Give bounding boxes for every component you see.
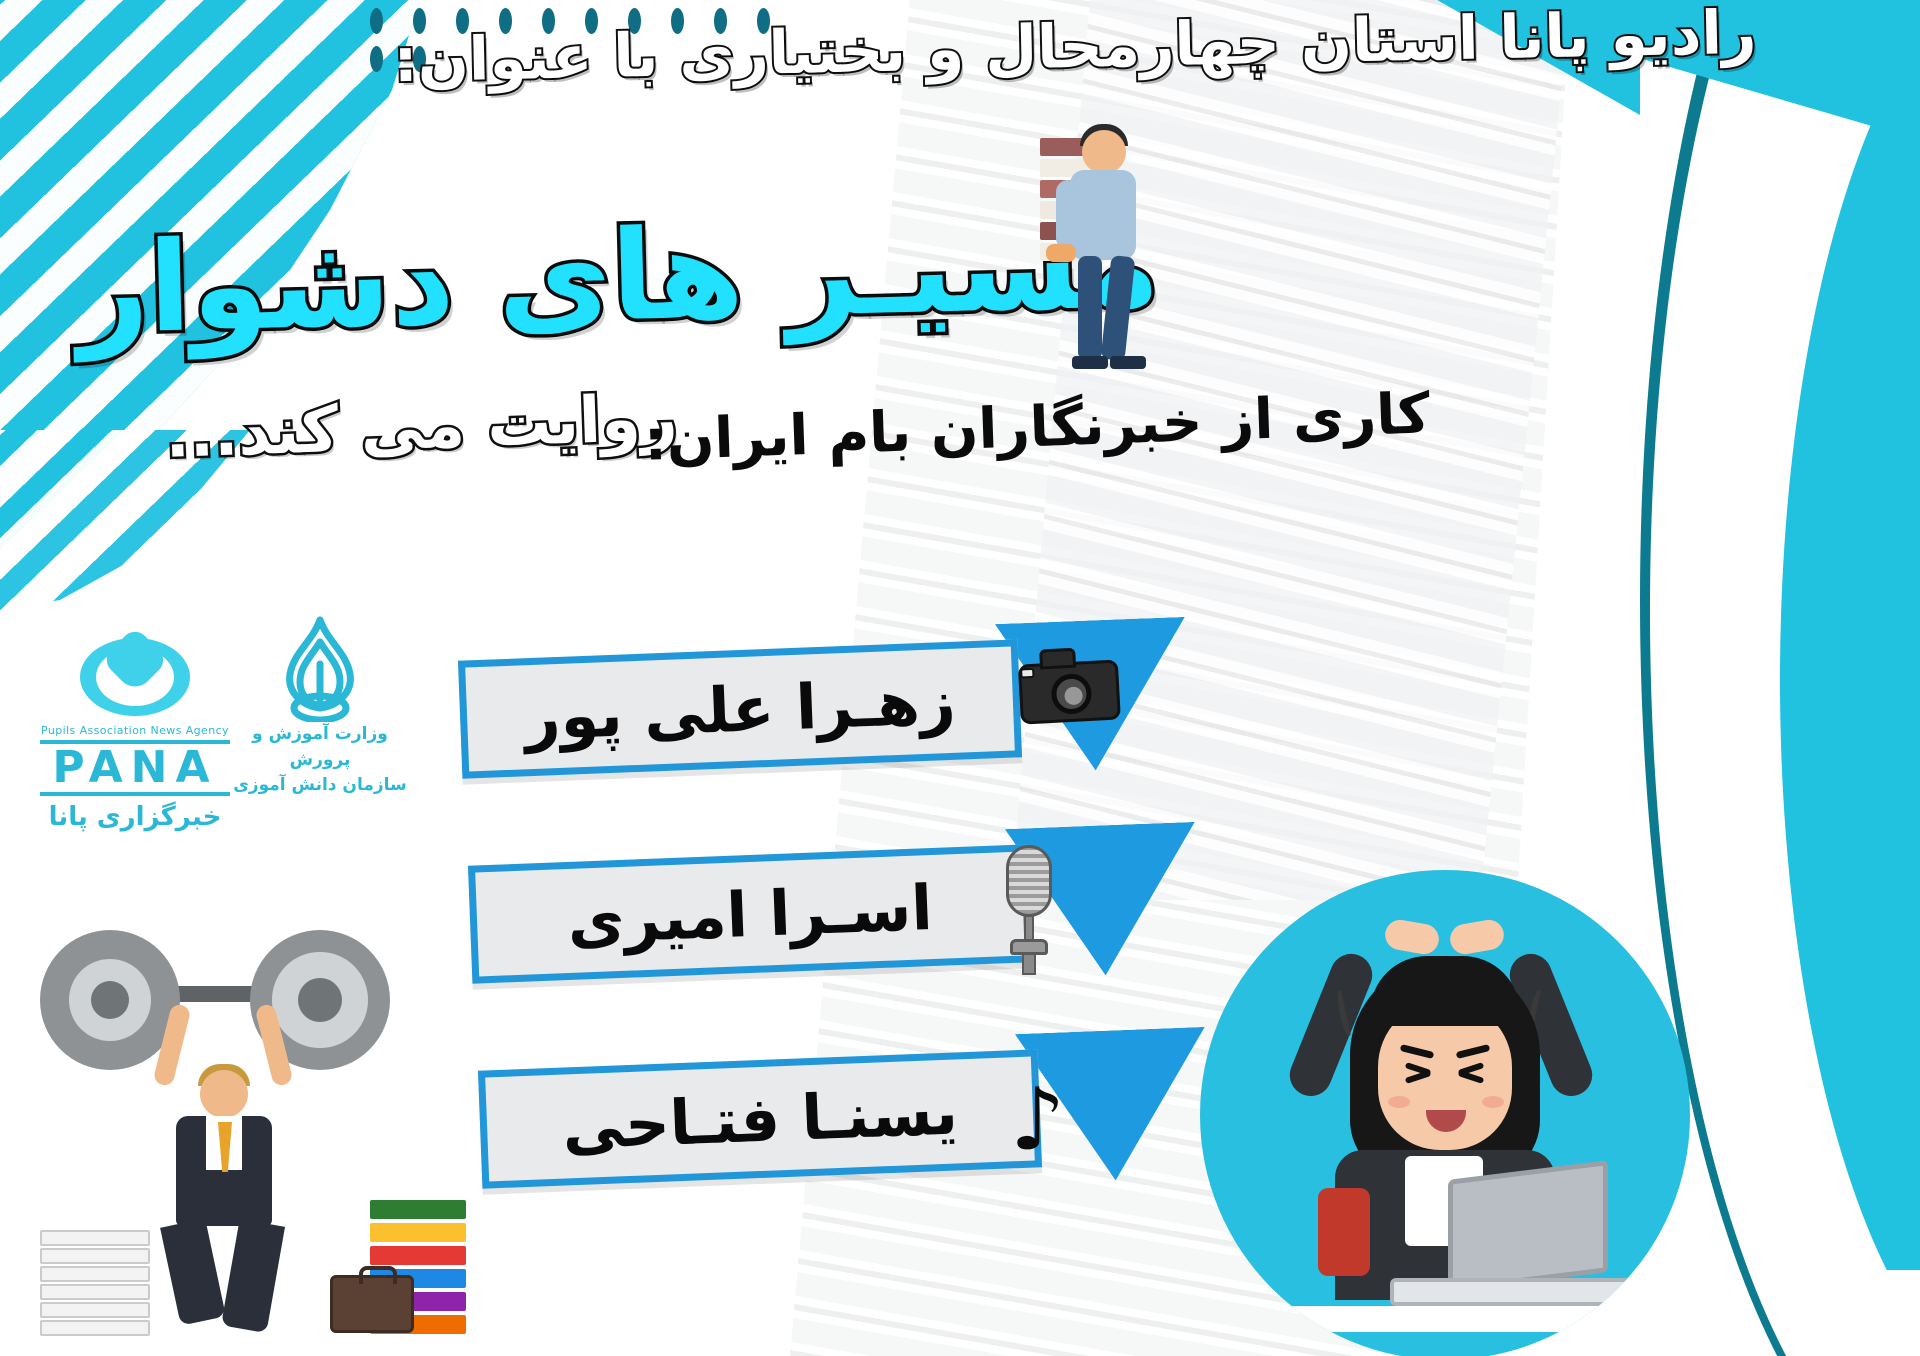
pana-logo: Pupils Association News Agency PANA خبرگ… bbox=[40, 630, 230, 832]
laptop-base bbox=[1390, 1278, 1650, 1306]
head bbox=[200, 1070, 248, 1118]
ministry-logo: وزارت آموزش و پرورش سازمان دانش آموزی bbox=[225, 612, 415, 799]
leg-left bbox=[1078, 256, 1102, 360]
cheek-left bbox=[1388, 1096, 1410, 1108]
reporter-banner-2[interactable]: اسـرا امیری bbox=[468, 844, 1032, 983]
hand-left bbox=[1383, 918, 1441, 957]
head bbox=[1082, 130, 1126, 174]
weightlifter-illustration bbox=[40, 930, 420, 1350]
leg-right bbox=[1101, 255, 1136, 361]
leg-right bbox=[221, 1219, 285, 1333]
paper-stack bbox=[40, 1230, 160, 1340]
reporter-name: زهـرا علی پور bbox=[523, 664, 957, 753]
hand bbox=[1046, 244, 1076, 262]
banner-plate: اسـرا امیری bbox=[468, 844, 1032, 983]
microphone-icon bbox=[1000, 845, 1058, 975]
arm bbox=[1056, 180, 1080, 250]
ministry-emblem-icon bbox=[260, 612, 380, 722]
woman-at-laptop-illustration bbox=[1200, 870, 1690, 1356]
page-title: مسیـر های دشوار bbox=[76, 192, 1162, 362]
hand-right bbox=[1448, 918, 1506, 957]
ministry-line-2: سازمان دانش آموزی bbox=[225, 773, 415, 799]
red-bag bbox=[1318, 1188, 1370, 1276]
banner-plate: زهـرا علی پور bbox=[458, 639, 1022, 778]
logo-group: Pupils Association News Agency PANA خبرگ… bbox=[30, 630, 410, 860]
briefcase-icon bbox=[330, 1275, 414, 1333]
laptop-screen bbox=[1448, 1160, 1608, 1292]
reporter-banner-3[interactable]: یسنـا فتـاحی bbox=[478, 1049, 1042, 1188]
pana-tagline: Pupils Association News Agency bbox=[40, 724, 230, 737]
pana-wordmark: PANA bbox=[40, 740, 230, 796]
shoe-right bbox=[1110, 356, 1146, 369]
gear-left-icon bbox=[50, 940, 170, 1060]
reporter-name: اسـرا امیری bbox=[566, 871, 934, 958]
reporter-name: یسنـا فتـاحی bbox=[561, 1075, 959, 1163]
camera-icon bbox=[1013, 637, 1128, 733]
man-carrying-books-illustration bbox=[1020, 120, 1170, 380]
cheek-right bbox=[1482, 1096, 1504, 1108]
pana-mark-icon bbox=[80, 630, 190, 720]
bangs bbox=[1370, 956, 1520, 1026]
reporter-banner-1[interactable]: زهـرا علی پور bbox=[458, 639, 1022, 778]
ministry-line-1: وزارت آموزش و پرورش bbox=[225, 722, 415, 773]
banner-plate: یسنـا فتـاحی bbox=[478, 1049, 1042, 1188]
desk bbox=[1260, 1306, 1640, 1332]
leg-left bbox=[160, 1218, 226, 1325]
pana-persian-label: خبرگزاری پانا bbox=[40, 802, 230, 832]
music-note-icon: ♪ bbox=[1010, 1070, 1065, 1170]
shoe-left bbox=[1072, 356, 1108, 369]
